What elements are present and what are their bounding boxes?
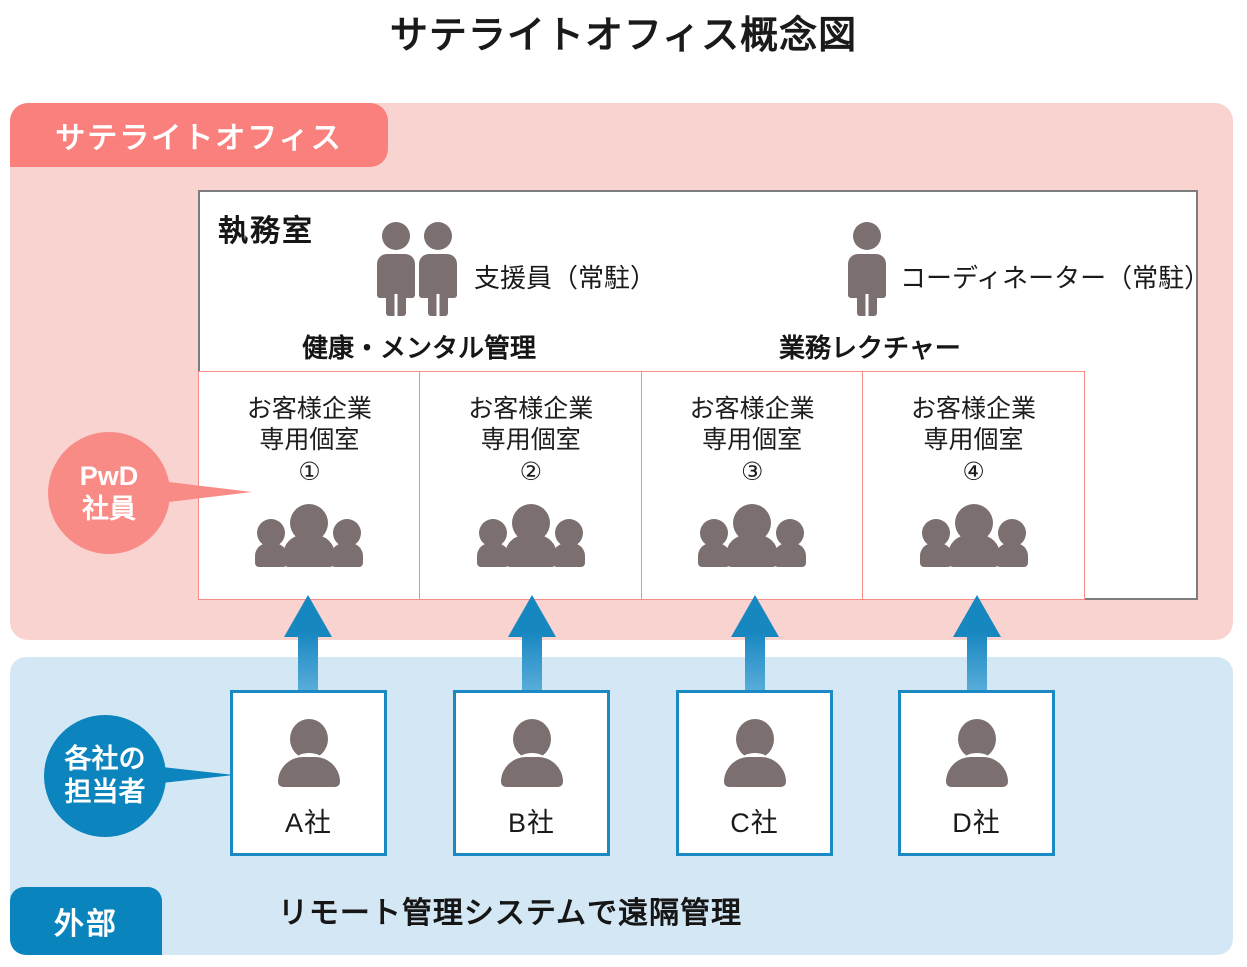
company-box-b[interactable]: B社 bbox=[453, 690, 610, 856]
support-staff-duty-label: 健康・メンタル管理 bbox=[302, 328, 536, 365]
private-room-3[interactable]: お客様企業 専用個室 ③ bbox=[641, 371, 864, 600]
company-label: C社 bbox=[730, 801, 779, 840]
private-room-4[interactable]: お客様企業 専用個室 ④ bbox=[862, 371, 1085, 600]
up-arrow-icon bbox=[284, 595, 332, 700]
private-rooms-row: お客様企業 専用個室 ① お客様企業 専用個室 ② お客様企業 専用個室 ③ bbox=[198, 371, 1085, 600]
group-of-three-icon bbox=[255, 501, 363, 565]
person-head bbox=[853, 222, 881, 250]
company-contact-callout: 各社の 担当者 bbox=[44, 715, 166, 837]
coordinator-figure bbox=[846, 222, 888, 314]
person-leg-gap bbox=[866, 294, 869, 316]
coordinator-role-label: コーディネーター（常駐） bbox=[900, 258, 1210, 295]
company-box-c[interactable]: C社 bbox=[676, 690, 833, 856]
person-body bbox=[848, 254, 886, 298]
remote-management-caption: リモート管理システムで遠隔管理 bbox=[0, 888, 1020, 932]
page-title: サテライトオフィス概念図 bbox=[0, 4, 1247, 59]
person-leg-gap bbox=[437, 294, 440, 316]
pwd-callout-line1: PwD bbox=[80, 460, 139, 493]
room-number: ③ bbox=[741, 456, 763, 489]
company-label: A社 bbox=[285, 801, 332, 840]
person-body bbox=[419, 254, 457, 298]
support-staff-figures bbox=[375, 222, 459, 314]
person-icon bbox=[846, 222, 888, 314]
up-arrow-icon bbox=[731, 595, 779, 700]
room-title-line1: お客様企業 bbox=[468, 394, 593, 425]
pwd-employee-callout: PwD 社員 bbox=[48, 432, 170, 554]
group-of-three-icon bbox=[698, 501, 806, 565]
company-box-a[interactable]: A社 bbox=[230, 690, 387, 856]
office-room-label: 執務室 bbox=[218, 206, 314, 250]
up-arrow-icon bbox=[953, 595, 1001, 700]
room-number: ① bbox=[298, 456, 320, 489]
company-label: B社 bbox=[508, 801, 555, 840]
user-avatar-icon bbox=[276, 719, 342, 785]
satellite-office-tag: サテライトオフィス bbox=[10, 103, 388, 167]
person-icon bbox=[417, 222, 459, 314]
tanto-callout-line2: 担当者 bbox=[65, 776, 146, 809]
tanto-callout-line1: 各社の bbox=[65, 743, 146, 776]
pwd-callout-line2: 社員 bbox=[82, 493, 136, 526]
room-title-line2: 専用個室 bbox=[702, 425, 802, 456]
room-title-line1: お客様企業 bbox=[690, 394, 815, 425]
user-avatar-icon bbox=[944, 719, 1010, 785]
room-title-line2: 専用個室 bbox=[924, 425, 1024, 456]
person-body bbox=[377, 254, 415, 298]
diagram-canvas: サテライトオフィス概念図 サテライトオフィス 執務室 支援員（常駐） 健康・メン… bbox=[0, 0, 1247, 967]
up-arrow-icon bbox=[508, 595, 556, 700]
person-head bbox=[424, 222, 452, 250]
room-title-line2: 専用個室 bbox=[259, 425, 359, 456]
person-leg-gap bbox=[395, 294, 398, 316]
company-box-d[interactable]: D社 bbox=[898, 690, 1055, 856]
company-label: D社 bbox=[952, 801, 1001, 840]
group-of-three-icon bbox=[477, 501, 585, 565]
room-title-line1: お客様企業 bbox=[911, 394, 1036, 425]
private-room-2[interactable]: お客様企業 専用個室 ② bbox=[419, 371, 642, 600]
room-title-line1: お客様企業 bbox=[247, 394, 372, 425]
room-title-line2: 専用個室 bbox=[481, 425, 581, 456]
callout-pointer-icon bbox=[144, 765, 234, 785]
user-avatar-icon bbox=[722, 719, 788, 785]
group-of-three-icon bbox=[920, 501, 1028, 565]
room-number: ② bbox=[520, 456, 542, 489]
person-head bbox=[382, 222, 410, 250]
room-number: ④ bbox=[962, 456, 984, 489]
support-staff-role-label: 支援員（常駐） bbox=[474, 258, 656, 295]
callout-pointer-icon bbox=[152, 480, 252, 504]
user-avatar-icon bbox=[499, 719, 565, 785]
coordinator-duty-label: 業務レクチャー bbox=[779, 328, 961, 365]
person-icon bbox=[375, 222, 417, 314]
